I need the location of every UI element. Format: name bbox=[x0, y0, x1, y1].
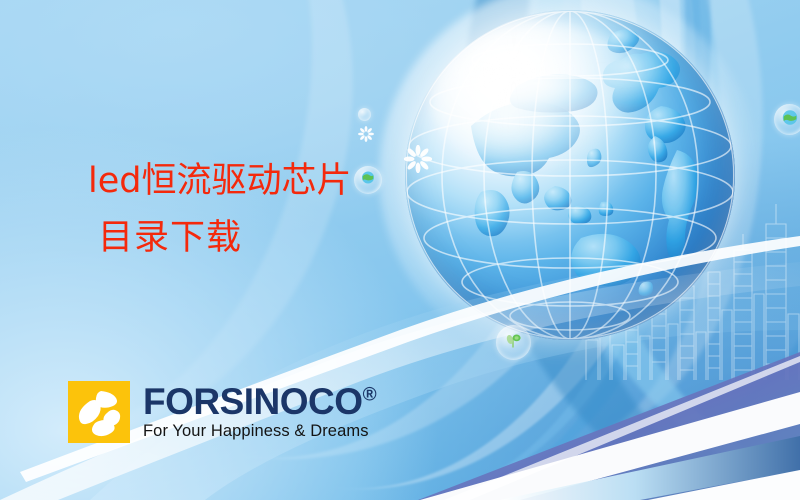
logo-text-block: FORSINOCO® For Your Happiness & Dreams bbox=[143, 383, 376, 441]
bubble-globe-core bbox=[781, 108, 799, 131]
logo-wordmark: FORSINOCO® bbox=[143, 383, 376, 420]
company-logo: FORSINOCO® For Your Happiness & Dreams bbox=[68, 381, 376, 443]
logo-tagline: For Your Happiness & Dreams bbox=[143, 422, 376, 441]
headline-line-2: 目录下载 bbox=[98, 221, 351, 256]
bubble-globe-icon bbox=[354, 166, 382, 194]
bubble-leaf-core bbox=[504, 330, 524, 355]
bubble-globe-icon bbox=[358, 108, 371, 121]
asterisk-flower-icon bbox=[404, 145, 432, 173]
registered-trademark-icon: ® bbox=[363, 385, 377, 406]
bubble-leaf-icon bbox=[496, 325, 531, 360]
four-petal-pinwheel-icon bbox=[68, 381, 130, 443]
bubble-globe-icon bbox=[774, 104, 800, 135]
asterisk-flower-icon bbox=[358, 126, 374, 142]
promo-banner: led恒流驱动芯片 目录下载 FORSINOCO® For Your Happi… bbox=[0, 0, 800, 500]
logo-wordmark-text: FORSINOCO bbox=[143, 381, 363, 422]
bubble-globe-core bbox=[361, 170, 376, 190]
headline-text: led恒流驱动芯片 目录下载 bbox=[88, 164, 351, 256]
headline-line-1: led恒流驱动芯片 bbox=[88, 164, 351, 199]
